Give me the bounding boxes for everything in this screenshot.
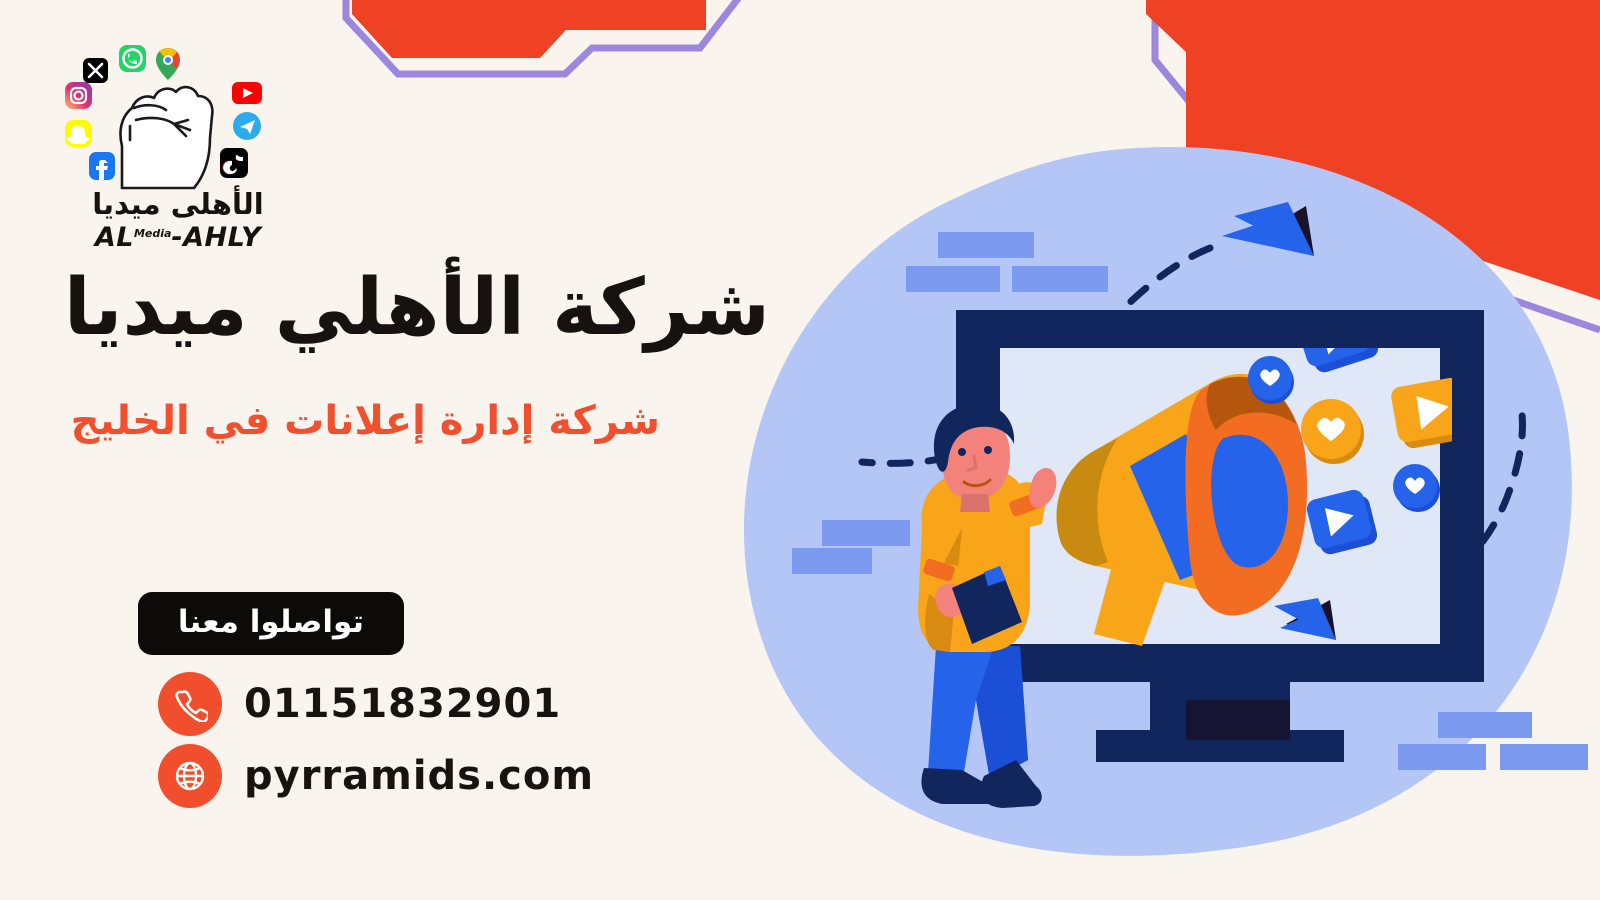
play-button-blue-top: [1293, 297, 1380, 375]
page-title: شركة الأهلي ميديا: [64, 266, 770, 350]
raised-fist-icon: [120, 87, 212, 188]
telegram-icon: [233, 112, 261, 140]
logo-latin-right: -AHLY: [171, 222, 261, 253]
play-button-orange: [1390, 376, 1475, 449]
heart-blue-right: [1393, 464, 1440, 512]
phone-number: 01151832901: [244, 681, 561, 727]
blue-blob-background: [744, 147, 1572, 856]
phone-icon: [158, 672, 222, 736]
standing-person-with-tablet: [918, 404, 1056, 808]
contact-phone-row[interactable]: 01151832901: [158, 672, 561, 736]
x-icon: [83, 58, 108, 83]
page-subtitle: شركة إدارة إعلانات في الخليج: [71, 398, 660, 444]
globe-icon: [158, 744, 222, 808]
snapchat-icon: [65, 120, 92, 147]
paper-plane-top: [1222, 202, 1314, 256]
youtube-icon: [232, 82, 262, 104]
screen-contents: [1057, 297, 1475, 646]
heart-blue-left: [1248, 356, 1294, 404]
contact-website-row[interactable]: pyrramids.com: [158, 744, 594, 808]
instagram-icon: [65, 82, 92, 109]
desktop-monitor: [956, 310, 1484, 762]
promotional-banner: الأهلى ميديا ALMedia-AHLY شركة الأهلي مي…: [0, 0, 1600, 900]
logo-latin-left: AL: [95, 222, 134, 253]
website-url: pyrramids.com: [244, 753, 594, 799]
paper-plane-bottom: [1274, 598, 1336, 640]
company-logo[interactable]: الأهلى ميديا ALMedia-AHLY: [62, 42, 294, 252]
google-maps-icon: [156, 48, 180, 80]
logo-arabic-wordmark: الأهلى ميديا: [62, 190, 294, 219]
play-button-blue-bottom: [1305, 488, 1379, 557]
tiktok-icon: [220, 148, 248, 178]
whatsapp-icon: [119, 45, 146, 72]
brick-rectangles: [792, 232, 1588, 770]
logo-latin-superscript: Media: [134, 227, 171, 240]
logo-fist-and-social-icons: [62, 42, 294, 192]
dashed-path-curves: [862, 248, 1522, 659]
megaphone: [1057, 374, 1307, 646]
facebook-icon: [89, 152, 115, 180]
logo-latin-wordmark: ALMedia-AHLY: [62, 224, 294, 251]
contact-us-button[interactable]: تواصلوا معنا: [138, 592, 404, 655]
orange-polygons: [352, 0, 1600, 300]
heart-orange-center: [1301, 399, 1364, 464]
